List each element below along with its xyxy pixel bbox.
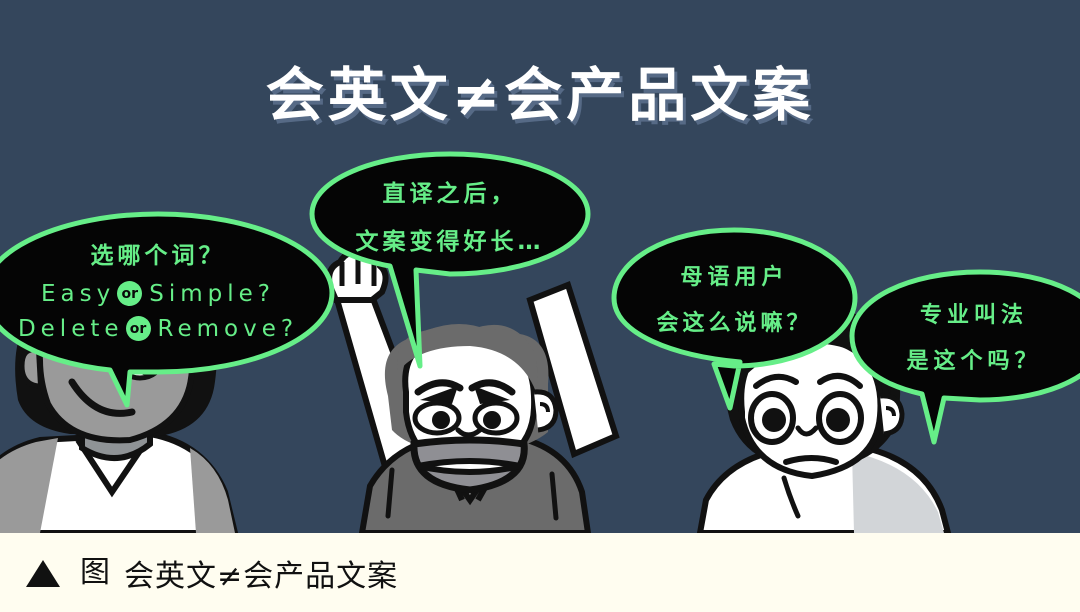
page-title: 会英文≠会产品文案: [0, 48, 1080, 132]
speech-bubble-far-right[interactable]: 专业叫法 是这个吗？: [848, 270, 1080, 402]
speech-bubble-left[interactable]: 选哪个词？ Easy or Simple? Delete or Remove?: [0, 212, 334, 374]
page-root: 会英文≠会产品文案: [0, 0, 1080, 612]
speech-bubble-right[interactable]: 母语用户 会这么说嘛？: [612, 228, 857, 368]
figure-label: 图: [80, 558, 110, 588]
speech-bubble-center-shape: [310, 152, 590, 372]
triangle-marker-icon: [26, 560, 60, 587]
figure-caption-text: 会英文≠会产品文案: [124, 551, 398, 595]
figure-caption: 图 会英文≠会产品文案: [0, 533, 1080, 612]
speech-bubble-far-right-shape: [848, 270, 1080, 450]
speech-bubble-center[interactable]: 直译之后， 文案变得好长…: [310, 152, 590, 277]
illustration-panel: 会英文≠会产品文案: [0, 0, 1080, 533]
speech-bubble-left-shape: [0, 212, 334, 412]
speech-bubble-right-shape: [612, 228, 857, 413]
